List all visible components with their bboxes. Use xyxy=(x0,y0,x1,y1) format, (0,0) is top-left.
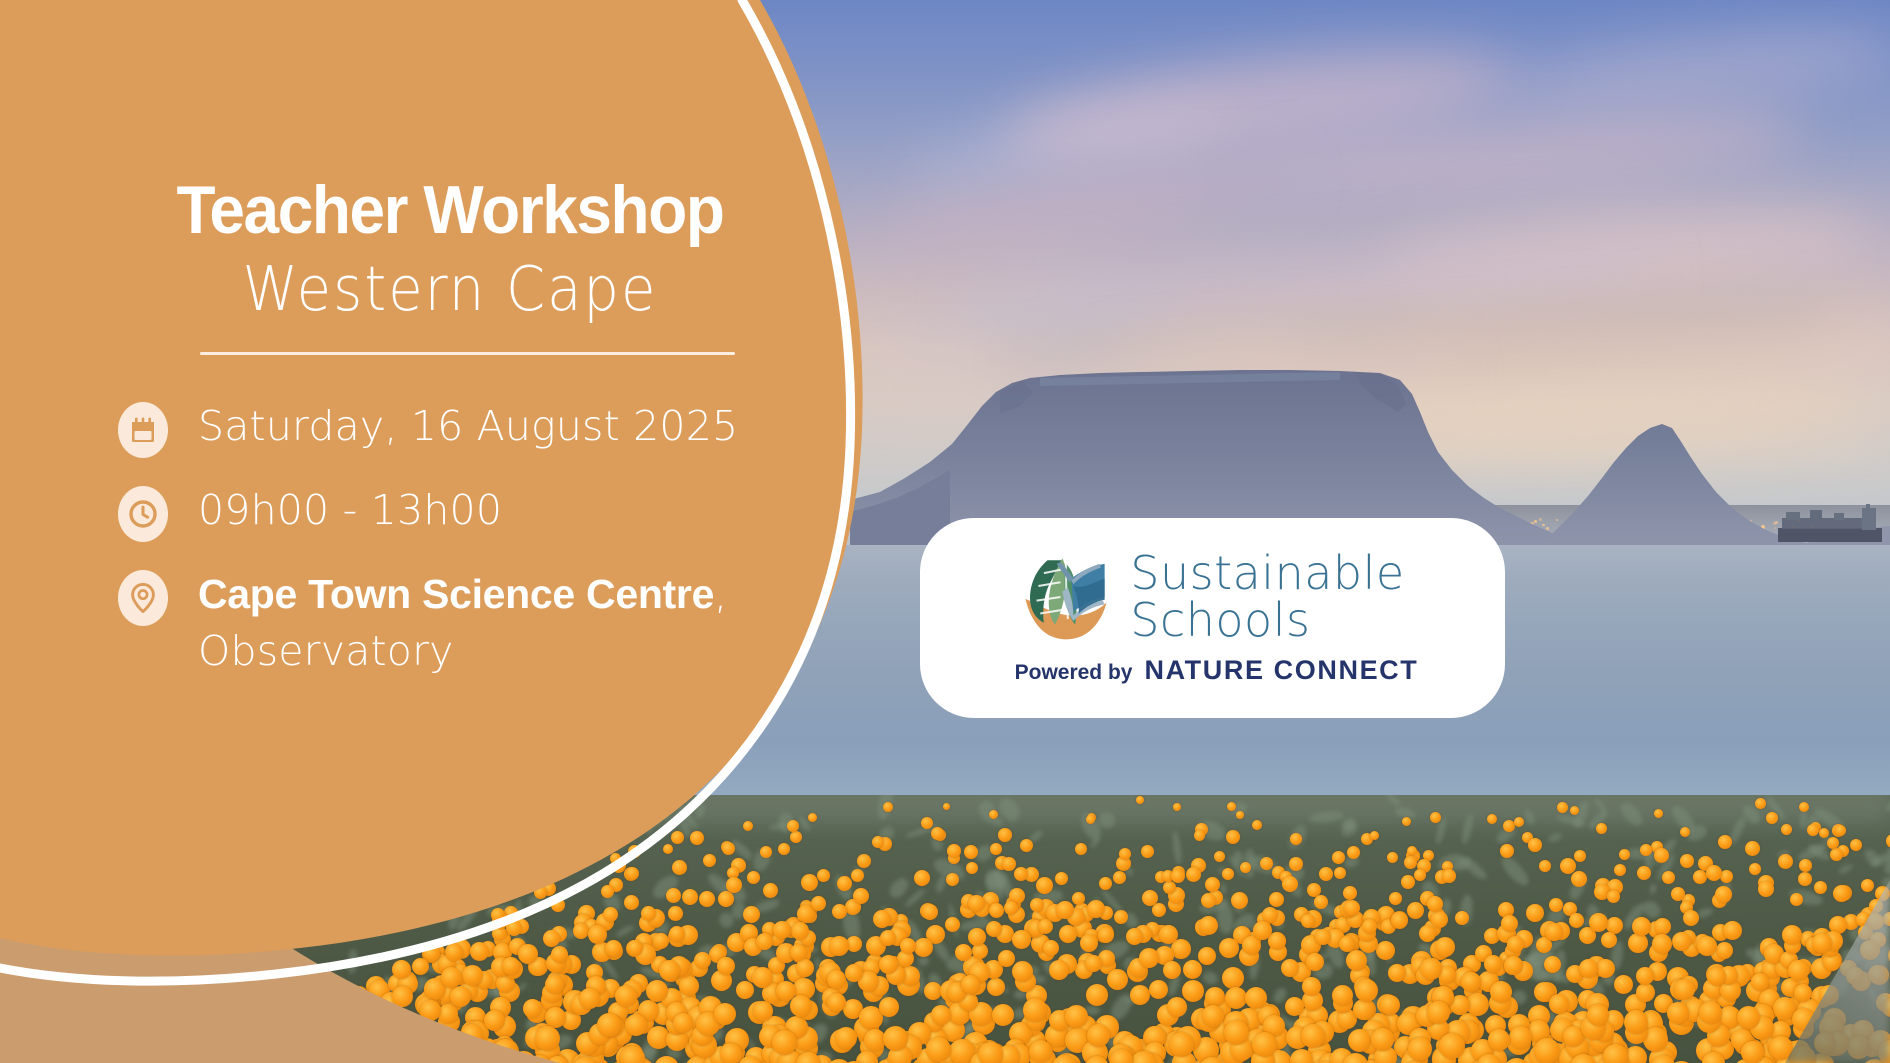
detail-text-date: Saturday, 16 August 2025 xyxy=(198,398,738,455)
event-poster: Teacher Workshop Western Cape xyxy=(0,0,1890,1063)
brand-line-2: Schools xyxy=(1130,597,1404,644)
page-subtitle: Western Cape xyxy=(0,259,900,321)
event-details-list: Saturday, 16 August 2025 09h00 - 13h00 xyxy=(118,398,878,703)
poster-content: Teacher Workshop Western Cape xyxy=(0,0,900,1063)
venue-name: Cape Town Science Centre xyxy=(198,571,714,617)
clock-icon-badge xyxy=(118,486,168,542)
brand-line-1: Sustainable xyxy=(1130,550,1404,597)
page-title: Teacher Workshop xyxy=(27,176,873,244)
sustainable-schools-logo-icon xyxy=(1020,551,1112,643)
divider-rule xyxy=(200,352,735,355)
detail-row-time: 09h00 - 13h00 xyxy=(118,482,878,542)
detail-row-date: Saturday, 16 August 2025 xyxy=(118,398,878,458)
powered-by-row: Powered by NATURE CONNECT xyxy=(1015,655,1419,686)
calendar-icon-badge xyxy=(118,402,168,458)
calendar-icon xyxy=(130,416,156,444)
map-pin-icon-badge xyxy=(118,570,168,626)
clock-icon xyxy=(129,500,157,528)
powered-by-label: Powered by xyxy=(1015,661,1133,685)
map-pin-icon xyxy=(131,583,155,613)
partner-name: NATURE CONNECT xyxy=(1144,655,1418,686)
logo-row: Sustainable Schools xyxy=(1020,550,1404,644)
logo-card: Sustainable Schools Powered by NATURE CO… xyxy=(920,518,1505,718)
detail-row-location: Cape Town Science Centre, Observatory xyxy=(118,566,878,679)
brand-wordmark: Sustainable Schools xyxy=(1130,550,1404,644)
detail-text-time: 09h00 - 13h00 xyxy=(198,482,502,539)
detail-text-location: Cape Town Science Centre, Observatory xyxy=(198,566,878,679)
